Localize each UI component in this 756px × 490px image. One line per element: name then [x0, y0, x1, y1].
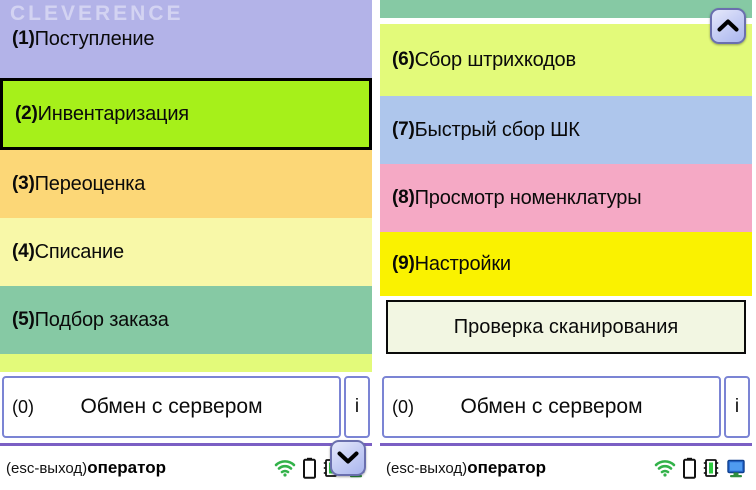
status-bar-left: (esc-выход) оператор — [0, 443, 372, 490]
menu-item-number: (7) — [392, 119, 415, 141]
menu-item-label: Быстрый сбор ШК — [415, 119, 580, 142]
info-button[interactable]: i — [344, 376, 370, 438]
esc-hint-label: (esc-выход) — [386, 460, 467, 477]
menu-item-label: Просмотр номенклатуры — [415, 187, 642, 210]
chevron-up-icon — [717, 19, 739, 33]
menu-panel-right: (6)Сбор штрихкодов(7)Быстрый сбор ШК(8)П… — [380, 0, 752, 490]
esc-hint-label: (esc-выход) — [6, 460, 87, 477]
menu-item-3[interactable]: (3)Переоценка — [0, 150, 372, 218]
wifi-icon — [654, 459, 676, 477]
scroll-up-button[interactable] — [710, 8, 746, 44]
monitor-icon — [726, 459, 746, 478]
menu-item-label: Переоценка — [35, 173, 146, 196]
menu-item-label: Списание — [35, 241, 124, 264]
status-bar-right: (esc-выход) оператор — [380, 443, 752, 490]
menu-item-label: Сбор штрихкодов — [415, 49, 576, 72]
menu-item-label: Подбор заказа — [35, 309, 169, 332]
menu-item-6[interactable]: (6)Сбор штрихкодов — [380, 24, 752, 96]
menu-item-number: (3) — [12, 173, 35, 195]
menu-item-4[interactable]: (4)Списание — [0, 218, 372, 286]
exchange-code: (0) — [392, 397, 414, 418]
menu-panel-left: CLEVERENCE (1)Поступление(2)Инвентаризац… — [0, 0, 372, 490]
menu-item-number: (5) — [12, 309, 35, 331]
status-user-block: (esc-выход) оператор — [386, 458, 546, 478]
wifi-icon — [274, 459, 296, 477]
chevron-down-icon — [337, 451, 359, 465]
menu-item-8[interactable]: (8)Просмотр номенклатуры — [380, 164, 752, 232]
battery-icon — [303, 457, 316, 479]
current-user-label: оператор — [87, 458, 166, 478]
menu-item-2[interactable]: (2)Инвентаризация — [0, 78, 372, 150]
exchange-code: (0) — [12, 397, 34, 418]
menu-item-number: (1) — [12, 28, 35, 50]
menu-item-9[interactable]: (9)Настройки — [380, 232, 752, 296]
menu-item-partial-next[interactable] — [0, 354, 372, 372]
exchange-bar-left: (0) Обмен с сервером i — [2, 376, 370, 438]
menu-item-number: (6) — [392, 49, 415, 71]
status-user-block: (esc-выход) оператор — [6, 458, 166, 478]
menu-item-number: (8) — [392, 187, 415, 209]
menu-item-partial-prev[interactable] — [380, 0, 752, 18]
current-user-label: оператор — [467, 458, 546, 478]
exchange-server-button[interactable]: (0) Обмен с сервером — [2, 376, 341, 438]
menu-item-label: Поступление — [35, 28, 155, 51]
menu-list-left[interactable]: (1)Поступление(2)Инвентаризация(3)Переоц… — [0, 0, 372, 372]
status-icons-right — [654, 457, 746, 479]
menu-item-number: (2) — [15, 103, 38, 125]
menu-item-number: (4) — [12, 241, 35, 263]
menu-item-1[interactable]: (1)Поступление — [0, 0, 372, 78]
exchange-title: Обмен с сервером — [384, 395, 719, 419]
app-screen: CLEVERENCE (1)Поступление(2)Инвентаризац… — [0, 0, 756, 490]
exchange-title: Обмен с сервером — [4, 395, 339, 419]
menu-item-label: Инвентаризация — [38, 103, 189, 126]
menu-item-label: Настройки — [415, 253, 511, 276]
battery-icon — [683, 457, 696, 479]
menu-item-5[interactable]: (5)Подбор заказа — [0, 286, 372, 354]
exchange-server-button[interactable]: (0) Обмен с сервером — [382, 376, 721, 438]
memory-chip-icon — [703, 458, 719, 478]
menu-item-7[interactable]: (7)Быстрый сбор ШК — [380, 96, 752, 164]
info-button[interactable]: i — [724, 376, 750, 438]
menu-item-number: (9) — [392, 253, 415, 275]
scroll-down-button[interactable] — [330, 440, 366, 476]
exchange-bar-right: (0) Обмен с сервером i — [382, 376, 750, 438]
scan-check-button[interactable]: Проверка сканирования — [386, 300, 746, 354]
